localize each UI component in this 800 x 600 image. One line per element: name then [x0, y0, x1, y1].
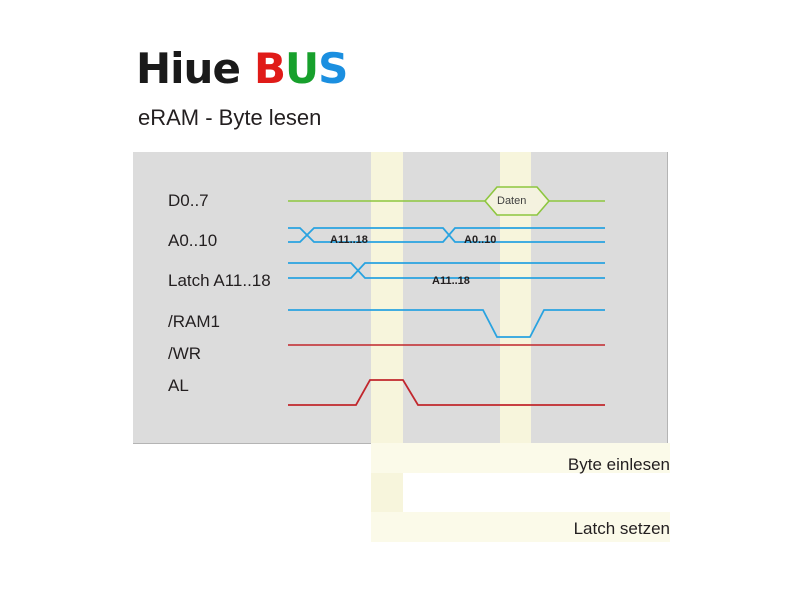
value-label-a11-18-bus: A11..18 [330, 234, 368, 246]
waveform-d0-7 [288, 187, 605, 215]
annotation-byte-einlesen: Byte einlesen [568, 455, 670, 475]
brand-logo: HiueBUS [136, 48, 347, 90]
value-label-daten: Daten [497, 195, 526, 207]
waveform-al [288, 380, 605, 405]
value-label-a0-10-bus: A0..10 [464, 234, 496, 246]
logo-letter-s: S [318, 48, 347, 90]
signal-label-a0-10: A0..10 [168, 231, 217, 251]
value-label-a11-18-latch: A11..18 [432, 275, 470, 287]
waveform-canvas [133, 152, 667, 443]
annotation-latch-setzen: Latch setzen [574, 519, 670, 539]
logo-letter-b: B [254, 48, 285, 90]
signal-label-wr: /WR [168, 344, 201, 364]
signal-label-latch: Latch A11..18 [168, 271, 271, 291]
signal-label-d0-7: D0..7 [168, 191, 209, 211]
logo-word-hiue: Hiue [136, 48, 240, 90]
page-title: eRAM - Byte lesen [138, 105, 321, 131]
waveform-ram1 [288, 310, 605, 337]
logo-letter-u: U [285, 48, 318, 90]
signal-label-ram1: /RAM1 [168, 312, 220, 332]
signal-label-al: AL [168, 376, 189, 396]
